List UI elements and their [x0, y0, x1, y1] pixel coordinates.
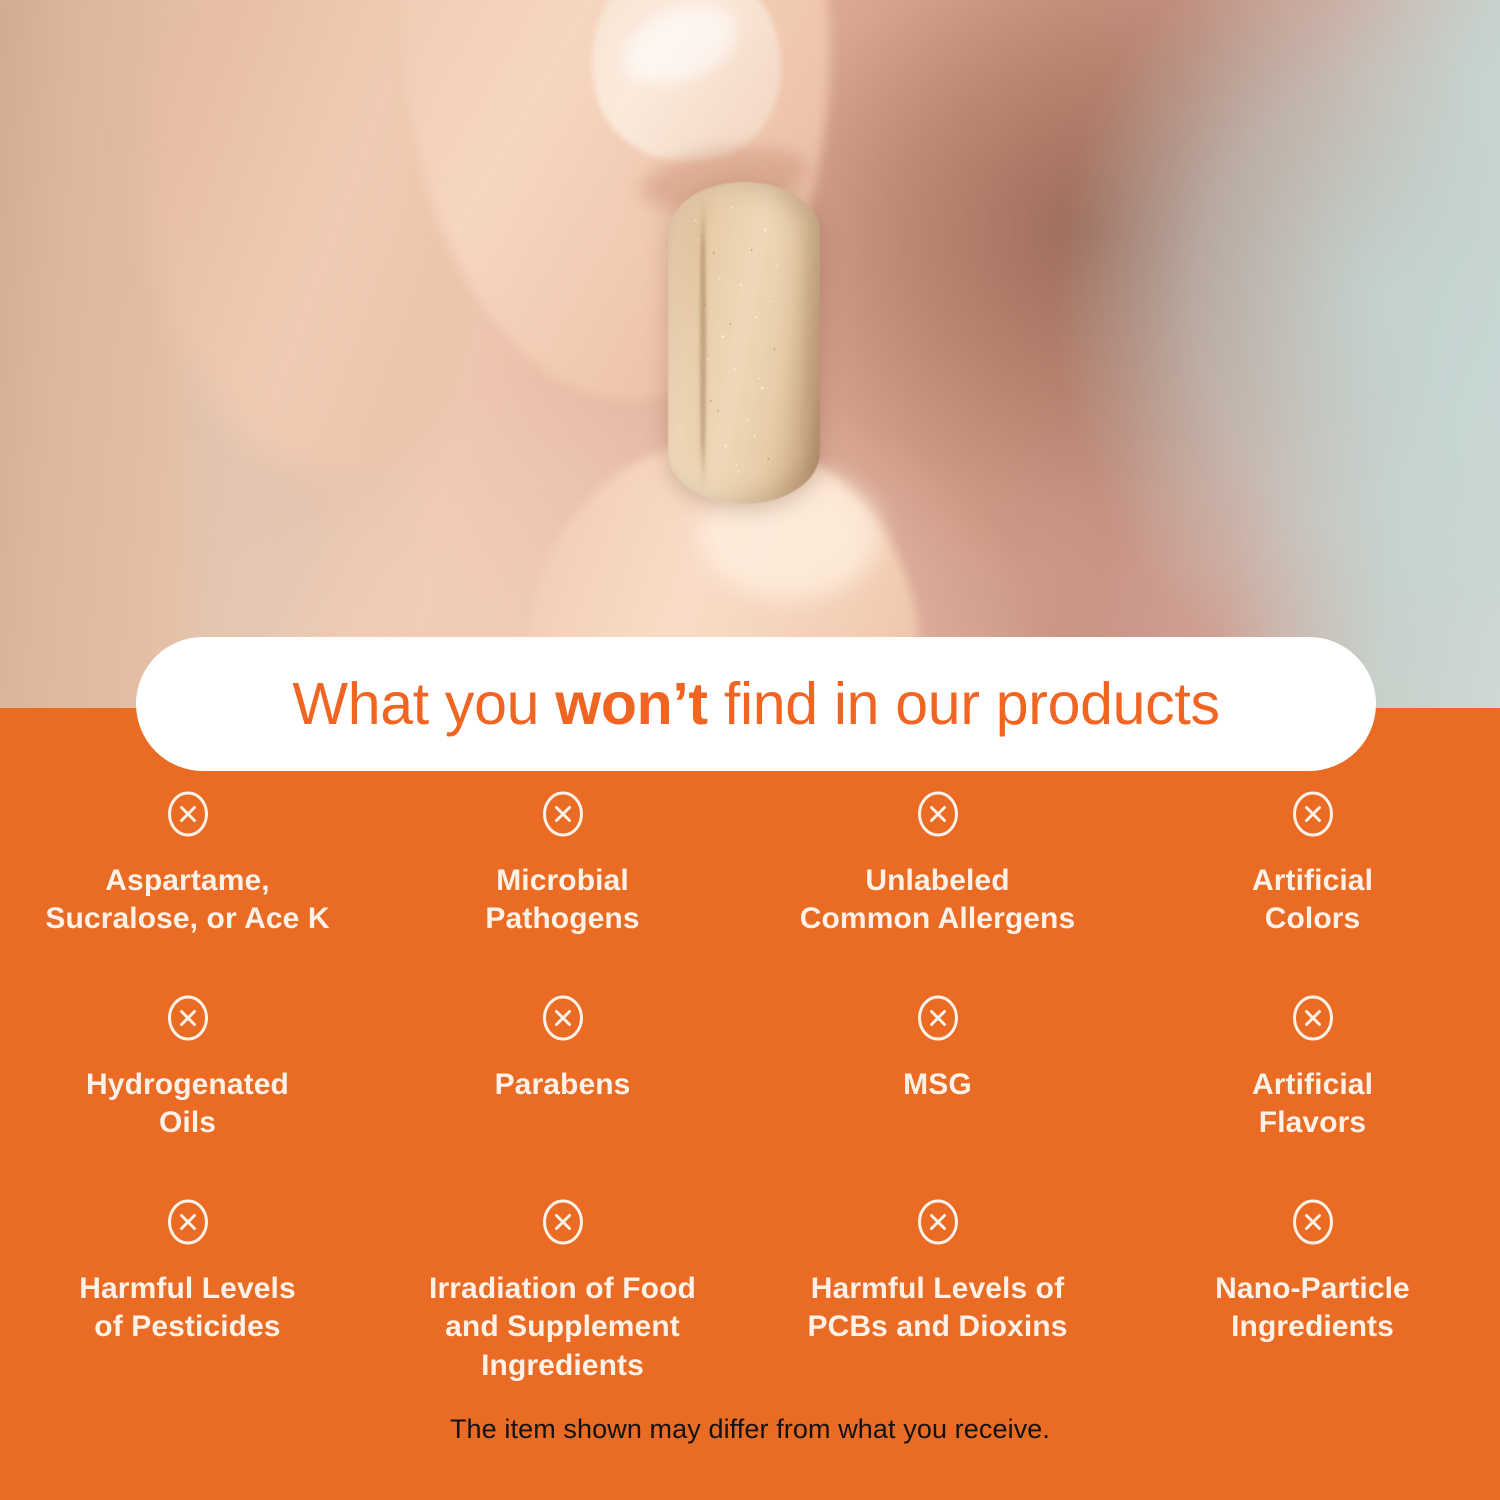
grid-row: Aspartame, Sucralose, or Ace K Microbial… [0, 790, 1500, 938]
excluded-item: Hydrogenated Oils [0, 994, 375, 1142]
circle-x-icon [914, 1198, 962, 1246]
circle-x-icon [539, 994, 587, 1042]
page-title-emphasis: won’t [555, 671, 708, 737]
excluded-item: Irradiation of Food and Supplement Ingre… [375, 1198, 750, 1384]
circle-x-icon [539, 790, 587, 838]
excluded-item-label: Artificial Colors [1252, 862, 1373, 938]
excluded-item-label: Parabens [495, 1066, 631, 1104]
circle-x-icon [539, 1198, 587, 1246]
excluded-item: Unlabeled Common Allergens [750, 790, 1125, 938]
circle-x-icon [914, 994, 962, 1042]
excluded-item: MSG [750, 994, 1125, 1142]
grid-row: Hydrogenated Oils Parabens [0, 994, 1500, 1142]
circle-x-icon [1289, 994, 1337, 1042]
excluded-item-label: MSG [903, 1066, 972, 1104]
circle-x-icon [164, 1198, 212, 1246]
product-claims-panel: What you won’t find in our products Aspa… [0, 0, 1500, 1500]
product-photo [0, 0, 1500, 708]
disclaimer-text: The item shown may differ from what you … [450, 1414, 1050, 1444]
excluded-item: Artificial Colors [1125, 790, 1500, 938]
excluded-item-label: Unlabeled Common Allergens [800, 862, 1076, 938]
page-title: What you won’t find in our products [292, 675, 1219, 734]
tablet-edge-seam [700, 196, 706, 492]
excluded-item: Harmful Levels of PCBs and Dioxins [750, 1198, 1125, 1384]
excluded-item-label: Artificial Flavors [1252, 1066, 1373, 1142]
page-title-suffix: find in our products [708, 671, 1220, 737]
excluded-item: Microbial Pathogens [375, 790, 750, 938]
circle-x-icon [164, 790, 212, 838]
excluded-item-label: Microbial Pathogens [485, 862, 639, 938]
excluded-item: Nano-Particle Ingredients [1125, 1198, 1500, 1384]
excluded-item-label: Harmful Levels of Pesticides [79, 1270, 295, 1346]
circle-x-icon [1289, 1198, 1337, 1246]
circle-x-icon [914, 790, 962, 838]
tablet-icon [668, 182, 820, 504]
circle-x-icon [1289, 790, 1337, 838]
circle-x-icon [164, 994, 212, 1042]
grid-row: Harmful Levels of Pesticides Irradiation… [0, 1198, 1500, 1384]
footer: The item shown may differ from what you … [0, 1414, 1500, 1445]
excluded-item: Parabens [375, 994, 750, 1142]
excluded-item: Aspartame, Sucralose, or Ace K [0, 790, 375, 938]
page-title-prefix: What you [292, 671, 555, 737]
excluded-item-label: Nano-Particle Ingredients [1215, 1270, 1410, 1346]
excluded-ingredients-grid: Aspartame, Sucralose, or Ace K Microbial… [0, 790, 1500, 1385]
excluded-item-label: Aspartame, Sucralose, or Ace K [45, 862, 329, 938]
excluded-item: Harmful Levels of Pesticides [0, 1198, 375, 1384]
excluded-item-label: Irradiation of Food and Supplement Ingre… [429, 1270, 696, 1384]
excluded-item: Artificial Flavors [1125, 994, 1500, 1142]
excluded-item-label: Harmful Levels of PCBs and Dioxins [808, 1270, 1068, 1346]
excluded-item-label: Hydrogenated Oils [86, 1066, 289, 1142]
headline-card: What you won’t find in our products [136, 637, 1376, 771]
